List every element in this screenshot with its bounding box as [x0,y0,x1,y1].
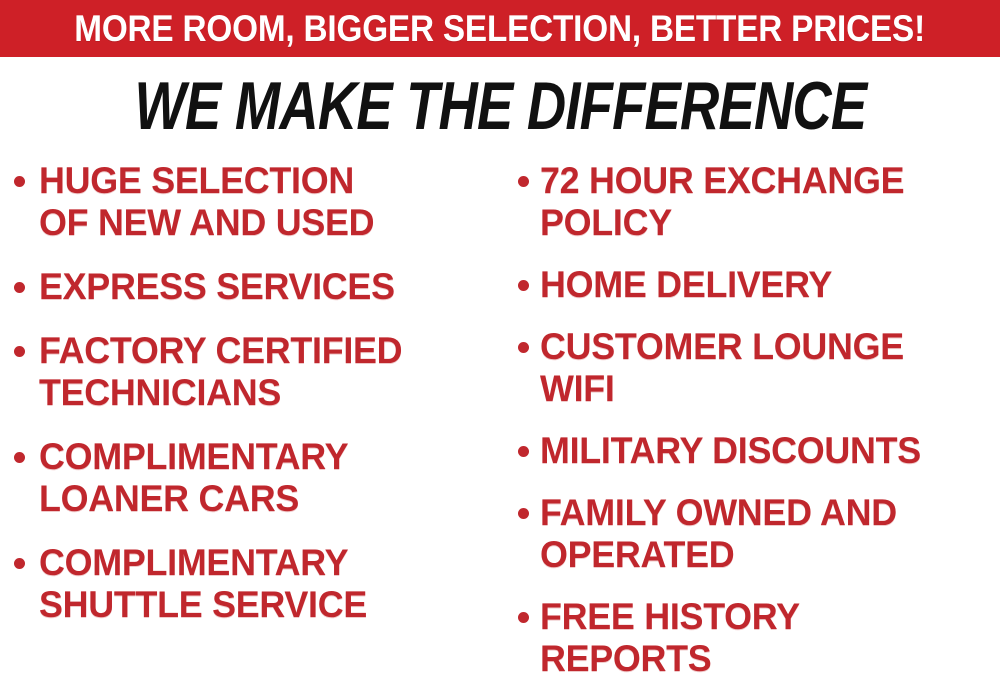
benefits-columns: HUGE SELECTION OF NEW AND USED EXPRESS S… [0,160,1000,694]
list-item: 72 HOUR EXCHANGE POLICY [518,160,1000,244]
list-item-label: EXPRESS SERVICES [39,266,395,308]
list-item-label: CUSTOMER LOUNGE WIFI [540,326,904,410]
headline-container: WE MAKE THE DIFFERENCE [0,66,1000,146]
bullet-dot-icon [518,280,529,291]
list-item: HOME DELIVERY [518,264,1000,306]
bullet-dot-icon [14,558,25,569]
bullet-dot-icon [14,452,25,463]
list-item: CUSTOMER LOUNGE WIFI [518,326,1000,410]
promo-banner-text: MORE ROOM, BIGGER SELECTION, BETTER PRIC… [75,10,926,47]
bullet-dot-icon [14,176,25,187]
list-item-label: 72 HOUR EXCHANGE POLICY [540,160,904,244]
list-item-label: HOME DELIVERY [540,264,832,306]
page-title: WE MAKE THE DIFFERENCE [134,72,866,140]
bullet-dot-icon [14,282,25,293]
list-item-label: MILITARY DISCOUNTS [540,430,921,472]
list-item-label: COMPLIMENTARY SHUTTLE SERVICE [39,542,367,626]
benefits-column-left: HUGE SELECTION OF NEW AND USED EXPRESS S… [14,160,506,648]
list-item: COMPLIMENTARY LOANER CARS [14,436,506,520]
bullet-dot-icon [518,446,529,457]
list-item-label: COMPLIMENTARY LOANER CARS [39,436,348,520]
bullet-dot-icon [14,346,25,357]
list-item-label: FAMILY OWNED AND OPERATED [540,492,897,576]
bullet-dot-icon [518,176,529,187]
list-item: EXPRESS SERVICES [14,266,506,308]
benefits-column-right: 72 HOUR EXCHANGE POLICY HOME DELIVERY CU… [518,160,1000,700]
list-item: FREE HISTORY REPORTS [518,596,1000,680]
list-item: HUGE SELECTION OF NEW AND USED [14,160,506,244]
list-item-label: FREE HISTORY REPORTS [540,596,800,680]
list-item-label: HUGE SELECTION OF NEW AND USED [39,160,374,244]
list-item: COMPLIMENTARY SHUTTLE SERVICE [14,542,506,626]
list-item: FAMILY OWNED AND OPERATED [518,492,1000,576]
promo-banner: MORE ROOM, BIGGER SELECTION, BETTER PRIC… [0,0,1000,57]
bullet-dot-icon [518,612,529,623]
list-item-label: FACTORY CERTIFIED TECHNICIANS [39,330,402,414]
bullet-dot-icon [518,342,529,353]
list-item: MILITARY DISCOUNTS [518,430,1000,472]
list-item: FACTORY CERTIFIED TECHNICIANS [14,330,506,414]
bullet-dot-icon [518,508,529,519]
